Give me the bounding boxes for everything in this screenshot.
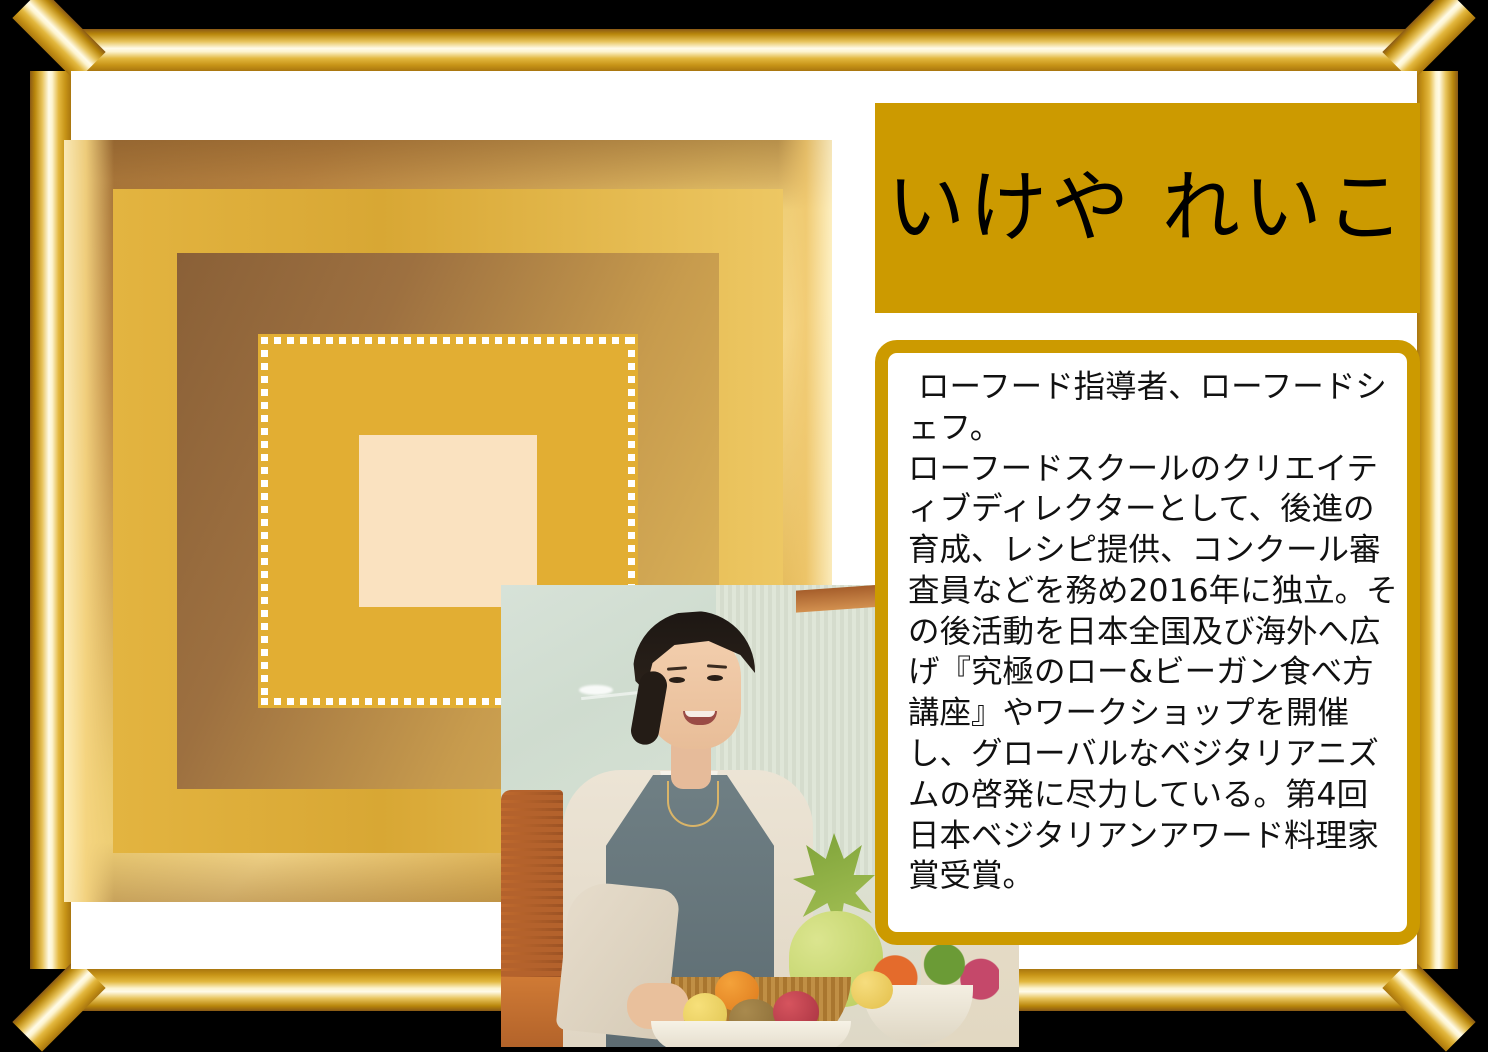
- ornate-corner-link-bottom-left: [12, 958, 105, 1051]
- ornate-corner-link-bottom-right: [1382, 958, 1475, 1051]
- biography-panel: ローフード指導者、ローフードシェフ。 ローフードスクールのクリエイティブディレク…: [875, 340, 1420, 945]
- photo-front-plate: [651, 1021, 851, 1047]
- photo-rattan-chair: [501, 790, 563, 1000]
- photo-eye-right: [707, 675, 723, 681]
- name-title-panel: いけや れいこ: [875, 103, 1420, 313]
- ornate-corner-link-top-right: [1382, 0, 1475, 82]
- ornate-corner-link-top-left: [12, 0, 105, 82]
- frame-brown-band: [177, 253, 719, 789]
- ornate-border-right: [1417, 29, 1458, 1011]
- biography-text: ローフード指導者、ローフードシェフ。 ローフードスクールのクリエイティブディレク…: [908, 367, 1399, 897]
- photo-eye-left: [669, 677, 685, 683]
- photo-fruit-lemon: [851, 971, 893, 1009]
- profile-card-stage: いけや れいこ ローフード指導者、ローフードシェフ。 ローフードスクールのクリエ…: [0, 0, 1488, 1040]
- page-title: いけや れいこ: [887, 169, 1408, 247]
- ornate-corner-notch-top-right: [1417, 0, 1488, 71]
- frame-dotted-band: [258, 334, 638, 708]
- photo-teeth: [685, 711, 715, 717]
- frame-outer-gold-band: [113, 189, 783, 853]
- ornate-border-top: [0, 29, 1488, 71]
- ornate-corner-notch-bottom-left: [0, 969, 71, 1040]
- ornate-corner-notch-top-left: [0, 0, 71, 71]
- ornate-corner-notch-bottom-right: [1417, 969, 1488, 1040]
- frame-mat: [359, 435, 537, 607]
- portrait-picture-frame: [64, 140, 832, 902]
